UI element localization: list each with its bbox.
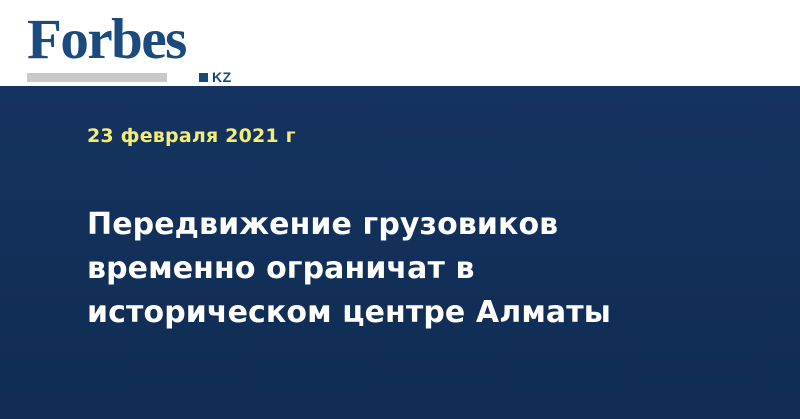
square-bullet-icon [199,73,208,82]
page-title-line: историческом центре Алматы [87,291,687,335]
forbes-wordmark: Forbes [27,9,186,71]
logo-kz-suffix: KZ [212,70,232,84]
forbes-kz-logo[interactable]: Forbes KZ [27,11,237,77]
page-title-line: временно ограничат в [87,247,687,291]
article-card: Forbes KZ 23 февраля 2021 г Передвижение… [0,0,800,419]
publication-date: 23 февраля 2021 г [87,125,296,147]
logo-rule-divider [27,73,167,82]
hero-panel: 23 февраля 2021 г Передвижение грузовико… [0,86,800,419]
page-title-line: Передвижение грузовиков [87,203,687,247]
site-header: Forbes KZ [0,0,800,86]
page-title: Передвижение грузовиков временно огранич… [87,203,687,335]
